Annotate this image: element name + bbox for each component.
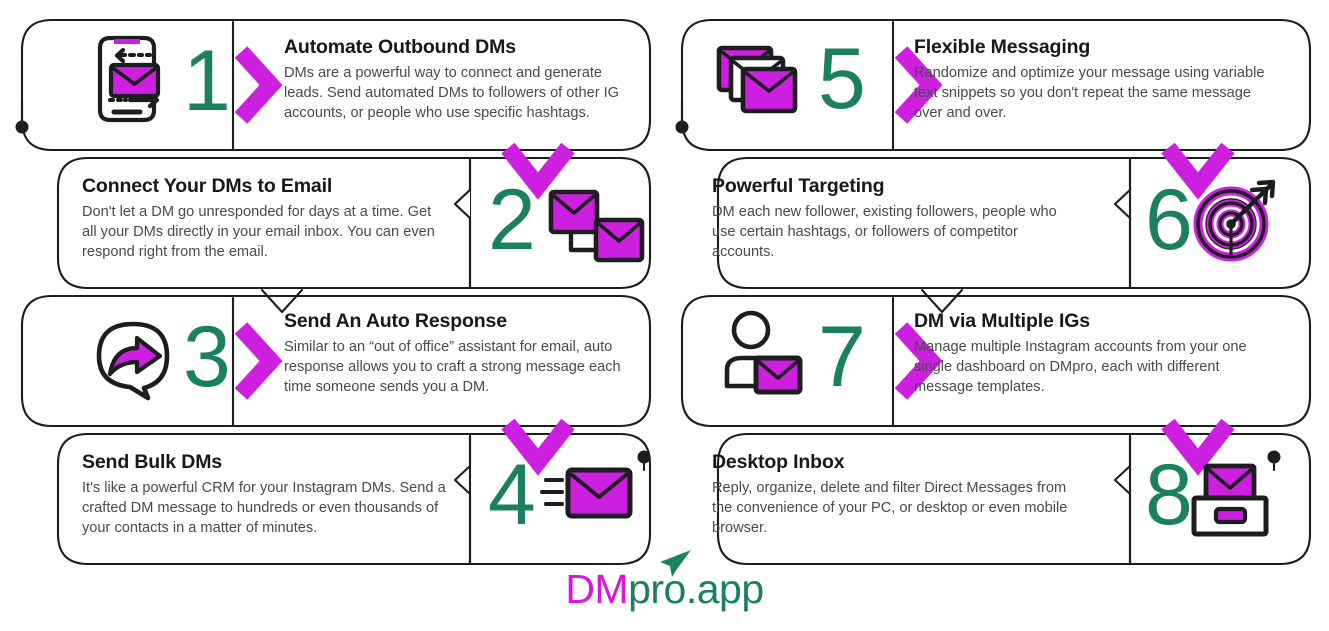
card-3-text: Send An Auto Response Similar to an “out… (284, 311, 636, 398)
card-2-text: Connect Your DMs to Email Don't let a DM… (82, 176, 444, 263)
logo-text-pro: pro.app (628, 566, 764, 612)
card-7-number: 7 (818, 314, 864, 400)
card-2-number: 2 (488, 177, 534, 263)
card-6-body: DM each new follower, existing followers… (712, 203, 1064, 263)
card-8-text: Desktop Inbox Reply, organize, delete an… (712, 452, 1074, 539)
card-3-icon (92, 318, 182, 402)
card-4-body: It's like a powerful CRM for your Instag… (82, 479, 454, 539)
card-5-title: Flexible Messaging (914, 37, 1276, 59)
card-7-icon (714, 308, 814, 402)
chevron-right-card-3 (241, 328, 271, 394)
timeline-dot-start-left (16, 121, 29, 134)
card-6-title: Powerful Targeting (712, 176, 1064, 198)
card-1-title: Automate Outbound DMs (284, 37, 636, 59)
card-6-text: Powerful Targeting DM each new follower,… (712, 176, 1064, 263)
card-8-icon (1188, 462, 1280, 540)
card-7-text: DM via Multiple IGs Manage multiple Inst… (914, 311, 1276, 398)
card-1-number: 1 (183, 38, 229, 124)
card-5-number: 5 (818, 36, 864, 122)
card-3-title: Send An Auto Response (284, 311, 636, 333)
card-7-title: DM via Multiple IGs (914, 311, 1276, 333)
logo-text-dm: DM (565, 566, 628, 612)
card-8-title: Desktop Inbox (712, 452, 1074, 474)
card-4-icon (540, 462, 640, 528)
card-7-body: Manage multiple Instagram accounts from … (914, 338, 1276, 398)
card-6-icon (1190, 170, 1286, 266)
card-2-icon (546, 180, 646, 270)
card-4-text: Send Bulk DMs It's like a powerful CRM f… (82, 452, 454, 539)
card-2-notch (455, 190, 470, 218)
card-4-number: 4 (488, 452, 534, 538)
card-8-number: 8 (1145, 452, 1191, 538)
brand-logo[interactable]: DMpro.app (0, 566, 1329, 613)
card-1-body: DMs are a powerful way to connect and ge… (284, 64, 636, 124)
card-2-title: Connect Your DMs to Email (82, 176, 444, 198)
card-1-text: Automate Outbound DMs DMs are a powerful… (284, 37, 636, 124)
card-3-body: Similar to an “out of office” assistant … (284, 338, 636, 398)
infographic-canvas: 1 Automate Outbound DMs DMs are a powerf… (0, 0, 1329, 631)
card-8-body: Reply, organize, delete and filter Direc… (712, 479, 1074, 539)
card-5-icon (714, 42, 814, 122)
chevron-right-card-1 (241, 52, 271, 118)
card-4-title: Send Bulk DMs (82, 452, 454, 474)
paper-plane-icon (658, 549, 692, 579)
card-1-icon (92, 28, 174, 128)
card-3-number: 3 (183, 314, 229, 400)
connector-1-2-line (262, 290, 302, 312)
connector-5-6-line (922, 290, 962, 312)
timeline-dot-start-right (676, 121, 689, 134)
card-2-body: Don't let a DM go unresponded for days a… (82, 203, 444, 263)
logo-wrap: DMpro.app (565, 566, 763, 613)
card-5-text: Flexible Messaging Randomize and optimiz… (914, 37, 1276, 124)
card-5-body: Randomize and optimize your message usin… (914, 64, 1276, 124)
card-6-number: 6 (1145, 177, 1191, 263)
